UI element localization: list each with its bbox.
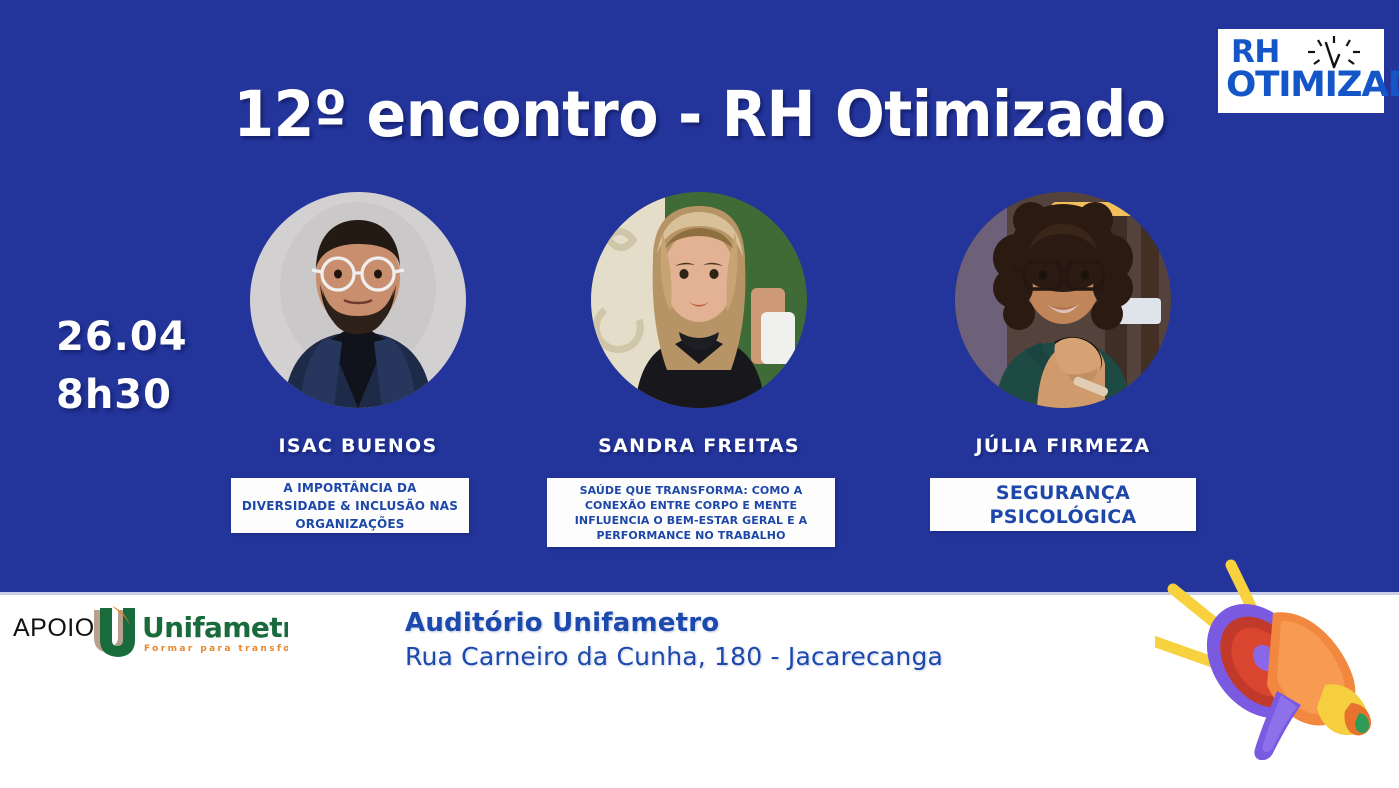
event-datetime: 26.04 8h30 (56, 308, 188, 424)
speaker-talk-3: SEGURANÇA PSICOLÓGICA (930, 478, 1196, 531)
speaker-talk-2: SAÚDE QUE TRANSFORMA: COMO A CONEXÃO ENT… (547, 478, 835, 547)
event-time: 8h30 (56, 366, 188, 424)
venue-info: Auditório Unifametro Rua Carneiro da Cun… (405, 608, 943, 671)
megaphone-icon (1155, 545, 1399, 760)
svg-text:Unifametro: Unifametro (142, 611, 288, 644)
speaker-card-2: SANDRA FREITAS SAÚDE QUE TRANSFORMA: COM… (591, 192, 807, 408)
event-date: 26.04 (56, 308, 188, 366)
speaker-card-1: ISAC BUENOS A IMPORTÂNCIA DA DIVERSIDADE… (250, 192, 466, 408)
avatar-julia-firmeza (955, 192, 1171, 408)
speaker-name-1: ISAC BUENOS (250, 435, 466, 457)
avatar-sandra-freitas (591, 192, 807, 408)
page-title: 12º encontro - RH Otimizado (49, 78, 1350, 151)
venue-address: Rua Carneiro da Cunha, 180 - Jacarecanga (405, 642, 943, 671)
event-poster: RH OTIMIZADO 12º encontro - RH Otimizado… (0, 0, 1399, 788)
venue-name: Auditório Unifametro (405, 608, 943, 638)
clock-icon (1296, 33, 1372, 71)
avatar-isac-buenos (250, 192, 466, 408)
speaker-name-2: SANDRA FREITAS (591, 435, 807, 457)
svg-text:Formar para transformar: Formar para transformar (144, 644, 288, 654)
speaker-talk-1: A IMPORTÂNCIA DA DIVERSIDADE & INCLUSÃO … (231, 478, 469, 533)
unifametro-logo: Unifametro Formar para transformar (88, 604, 288, 660)
speaker-name-3: JÚLIA FIRMEZA (955, 435, 1171, 457)
speaker-card-3: JÚLIA FIRMEZA SEGURANÇA PSICOLÓGICA (955, 192, 1171, 408)
